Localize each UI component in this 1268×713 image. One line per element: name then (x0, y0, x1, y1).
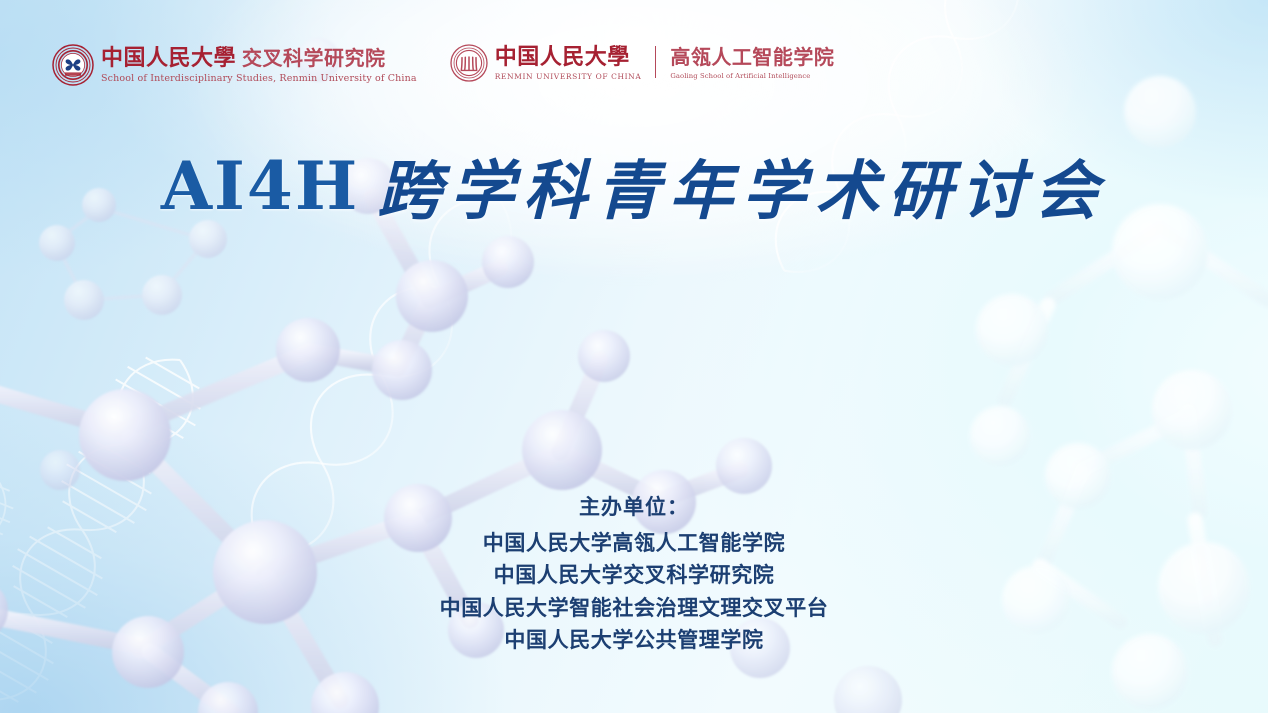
ruc-interdisciplinary-seal-icon (52, 44, 94, 86)
ruc-university-seal-icon (450, 44, 488, 82)
logo-gaoling-cn-sub: 高瓴人工智能学院 (670, 46, 834, 68)
logo-interdisciplinary-studies: 中国人民大學 交叉科学研究院 School of Interdisciplina… (52, 44, 417, 86)
logo-gaoling-school-ai: 中国人民大學 RENMIN UNIVERSITY OF CHINA 高瓴人工智能… (450, 44, 835, 82)
poster-title: AI4H跨学科青年学术研讨会 (0, 140, 1268, 232)
organizer-item: 中国人民大学公共管理学院 (0, 624, 1268, 657)
logo-interdisciplinary-cn-main: 中国人民大學 (101, 46, 236, 71)
logo-gaoling-sub-block: 高瓴人工智能学院 Gaoling School of Artificial In… (670, 46, 834, 79)
logo-interdisciplinary-text: 中国人民大學 交叉科学研究院 School of Interdisciplina… (101, 46, 417, 85)
logo-gaoling-en-main: RENMIN UNIVERSITY OF CHINA (495, 72, 642, 81)
organizer-item: 中国人民大学交叉科学研究院 (0, 559, 1268, 592)
logo-gaoling-cn-block: 中国人民大學 RENMIN UNIVERSITY OF CHINA (495, 45, 642, 81)
organizer-item: 中国人民大学高瓴人工智能学院 (0, 527, 1268, 560)
logo-divider (655, 46, 656, 78)
organizer-item: 中国人民大学智能社会治理文理交叉平台 (0, 592, 1268, 625)
logo-gaoling-cn-main: 中国人民大學 (495, 45, 642, 70)
logo-interdisciplinary-en: School of Interdisciplinary Studies, Ren… (101, 73, 417, 84)
logo-bar: 中国人民大學 交叉科学研究院 School of Interdisciplina… (52, 44, 834, 86)
poster-title-chinese: 跨学科青年学术研讨会 (377, 154, 1107, 229)
poster-title-latin: AI4H (161, 147, 359, 225)
logo-interdisciplinary-cn-sub: 交叉科学研究院 (242, 47, 386, 69)
organizers-block: 主办单位： 中国人民大学高瓴人工智能学院 中国人民大学交叉科学研究院 中国人民大… (0, 492, 1268, 657)
conference-poster: 中国人民大學 交叉科学研究院 School of Interdisciplina… (0, 0, 1268, 713)
logo-gaoling-en-sub: Gaoling School of Artificial Intelligenc… (670, 72, 834, 80)
organizers-heading: 主办单位： (0, 492, 1268, 524)
